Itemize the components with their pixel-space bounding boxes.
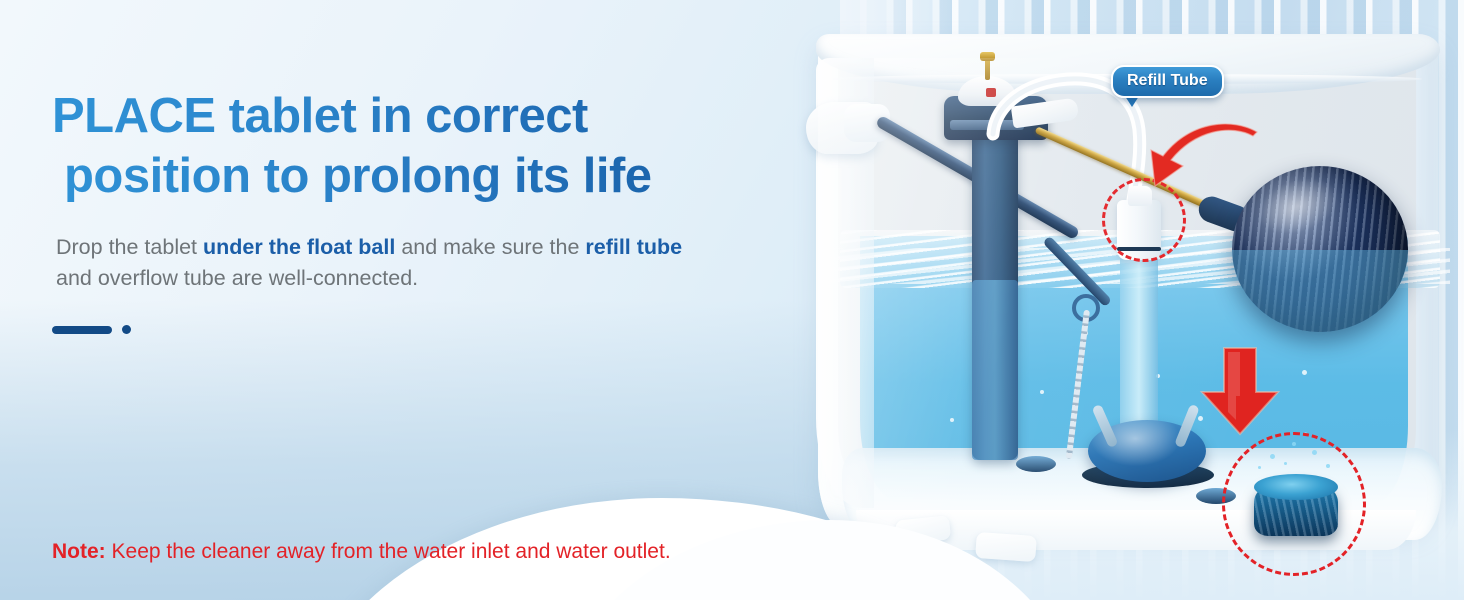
water-bubble xyxy=(1302,370,1307,375)
text-block: PLACE tablet in correctposition to prolo… xyxy=(52,86,842,294)
tank-bolt xyxy=(1016,456,1056,472)
divider-dash xyxy=(52,326,112,334)
divider-ornament xyxy=(52,325,131,334)
subtitle-bold-float-ball: under the float ball xyxy=(203,235,395,259)
water-bubble xyxy=(950,418,954,422)
subtitle-part-2: and make sure the xyxy=(395,235,585,259)
page-title: PLACE tablet in correctposition to prolo… xyxy=(52,86,842,206)
tank-support-foot xyxy=(975,532,1037,562)
down-arrow-icon xyxy=(1190,340,1290,440)
subtitle-part-3: and overflow tube are well-connected. xyxy=(56,266,418,290)
headline-line-1: PLACE tablet in correct xyxy=(52,89,588,143)
divider-dot xyxy=(122,325,131,334)
highlight-circle-tablet-position xyxy=(1222,432,1366,576)
note-text: Note: Keep the cleaner away from the wat… xyxy=(52,538,671,566)
fill-valve-submerged xyxy=(972,280,1018,460)
headline-line-2: position to prolong its life xyxy=(52,146,652,206)
note-body: Keep the cleaner away from the water inl… xyxy=(106,540,671,563)
subtitle-bold-refill-tube: refill tube xyxy=(585,235,682,259)
note-label: Note: xyxy=(52,540,106,563)
subtitle-text: Drop the tablet under the float ball and… xyxy=(56,232,816,294)
banner-stage: Refill Tube PLACE tablet in correctposit… xyxy=(0,0,1464,600)
water-bubble xyxy=(1040,390,1044,394)
refill-tube-label: Refill Tube xyxy=(1111,65,1224,98)
curved-arrow-icon xyxy=(1135,120,1265,200)
subtitle-part-1: Drop the tablet xyxy=(56,235,203,259)
